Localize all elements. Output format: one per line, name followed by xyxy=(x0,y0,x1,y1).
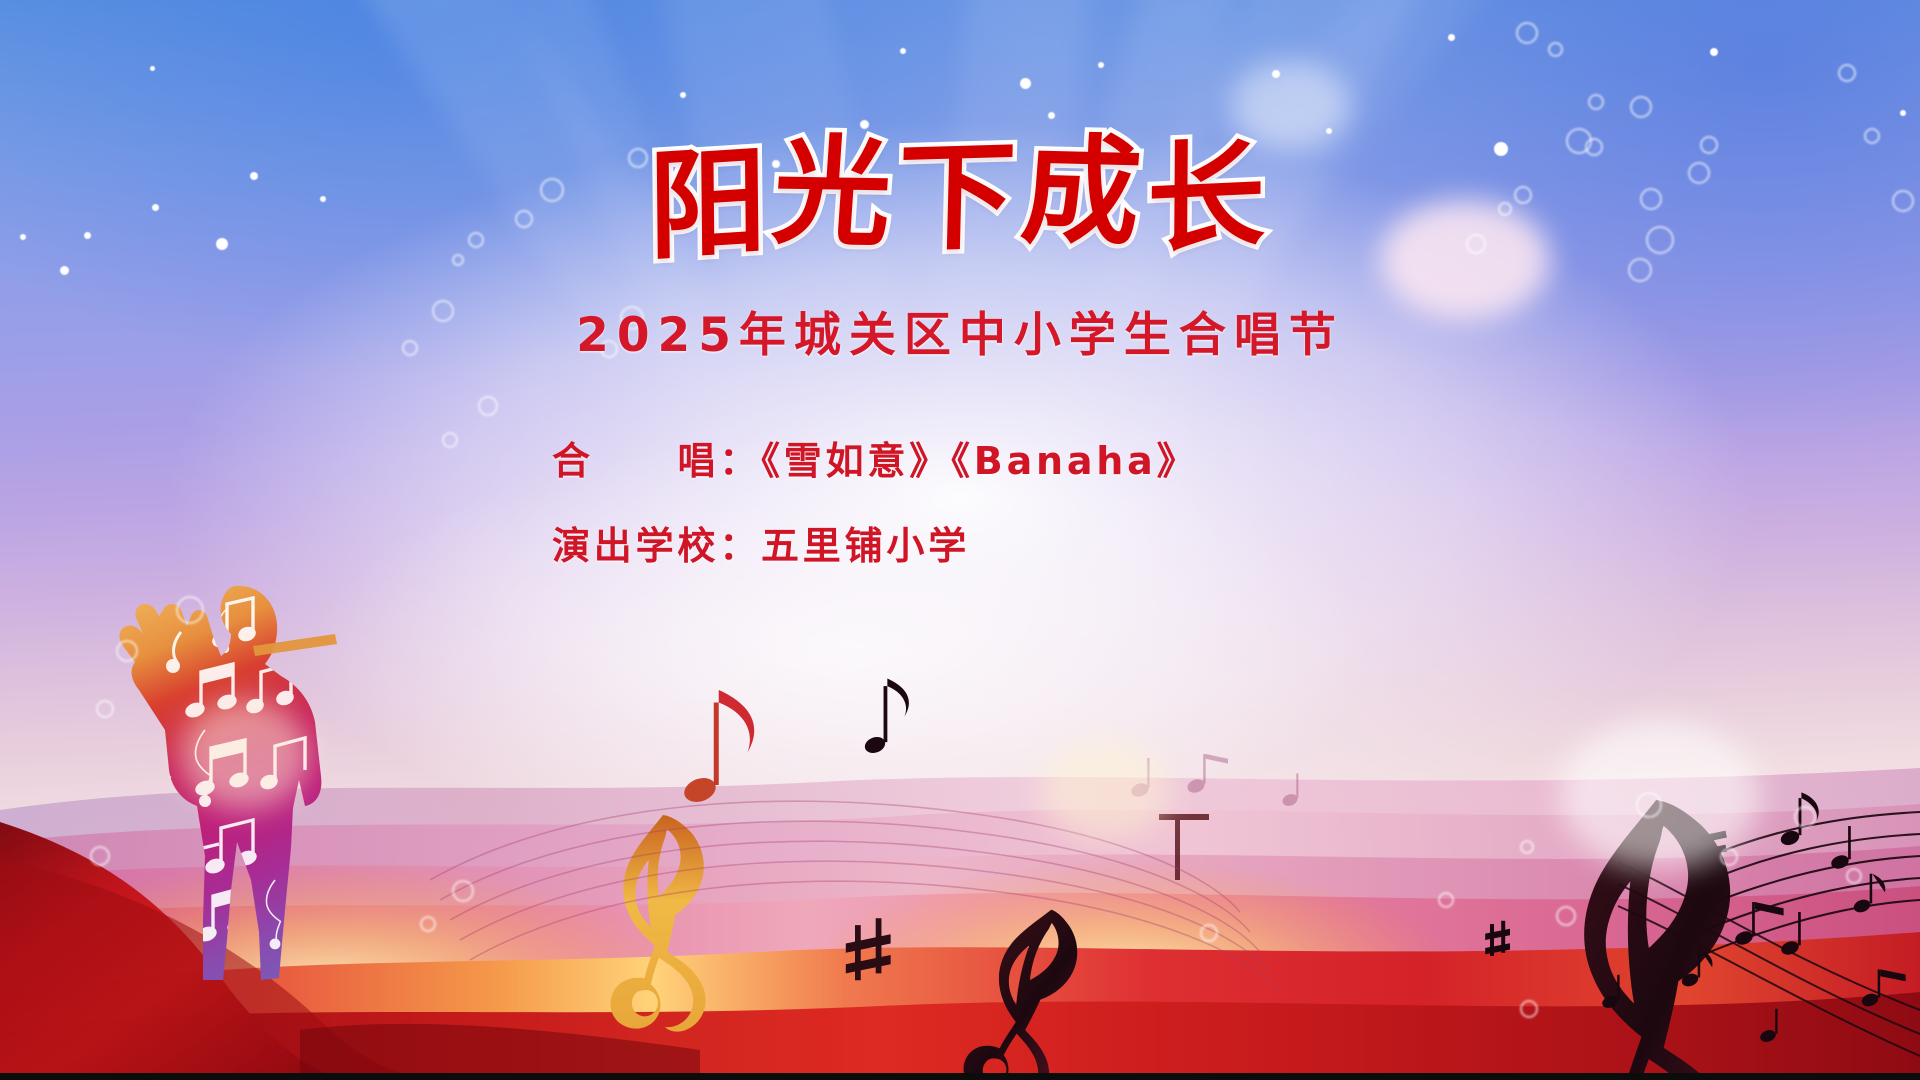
page-title: 阳光下成长 xyxy=(0,122,1920,267)
bottom-edge-bar xyxy=(0,1073,1920,1080)
title-char-5: 长 xyxy=(1146,132,1272,263)
school-line: 演出学校：五里铺小学 xyxy=(552,515,970,570)
title-char-2: 光 xyxy=(769,128,902,255)
chorus-line: 合 唱：《雪如意》《Banaha》 xyxy=(552,430,1198,485)
event-subtitle: 2025年城关区中小学生合唱节 xyxy=(0,296,1920,365)
title-char-3: 下 xyxy=(896,132,1024,261)
poster-stage: 阳光下成长 2025年城关区中小学生合唱节 合 唱：《雪如意》《Banaha》 … xyxy=(0,0,1920,1080)
poster-text-layer: 阳光下成长 2025年城关区中小学生合唱节 合 唱：《雪如意》《Banaha》 … xyxy=(0,0,1920,1080)
title-char-4: 成 xyxy=(1018,127,1152,255)
title-char-1: 阳 xyxy=(648,137,774,270)
